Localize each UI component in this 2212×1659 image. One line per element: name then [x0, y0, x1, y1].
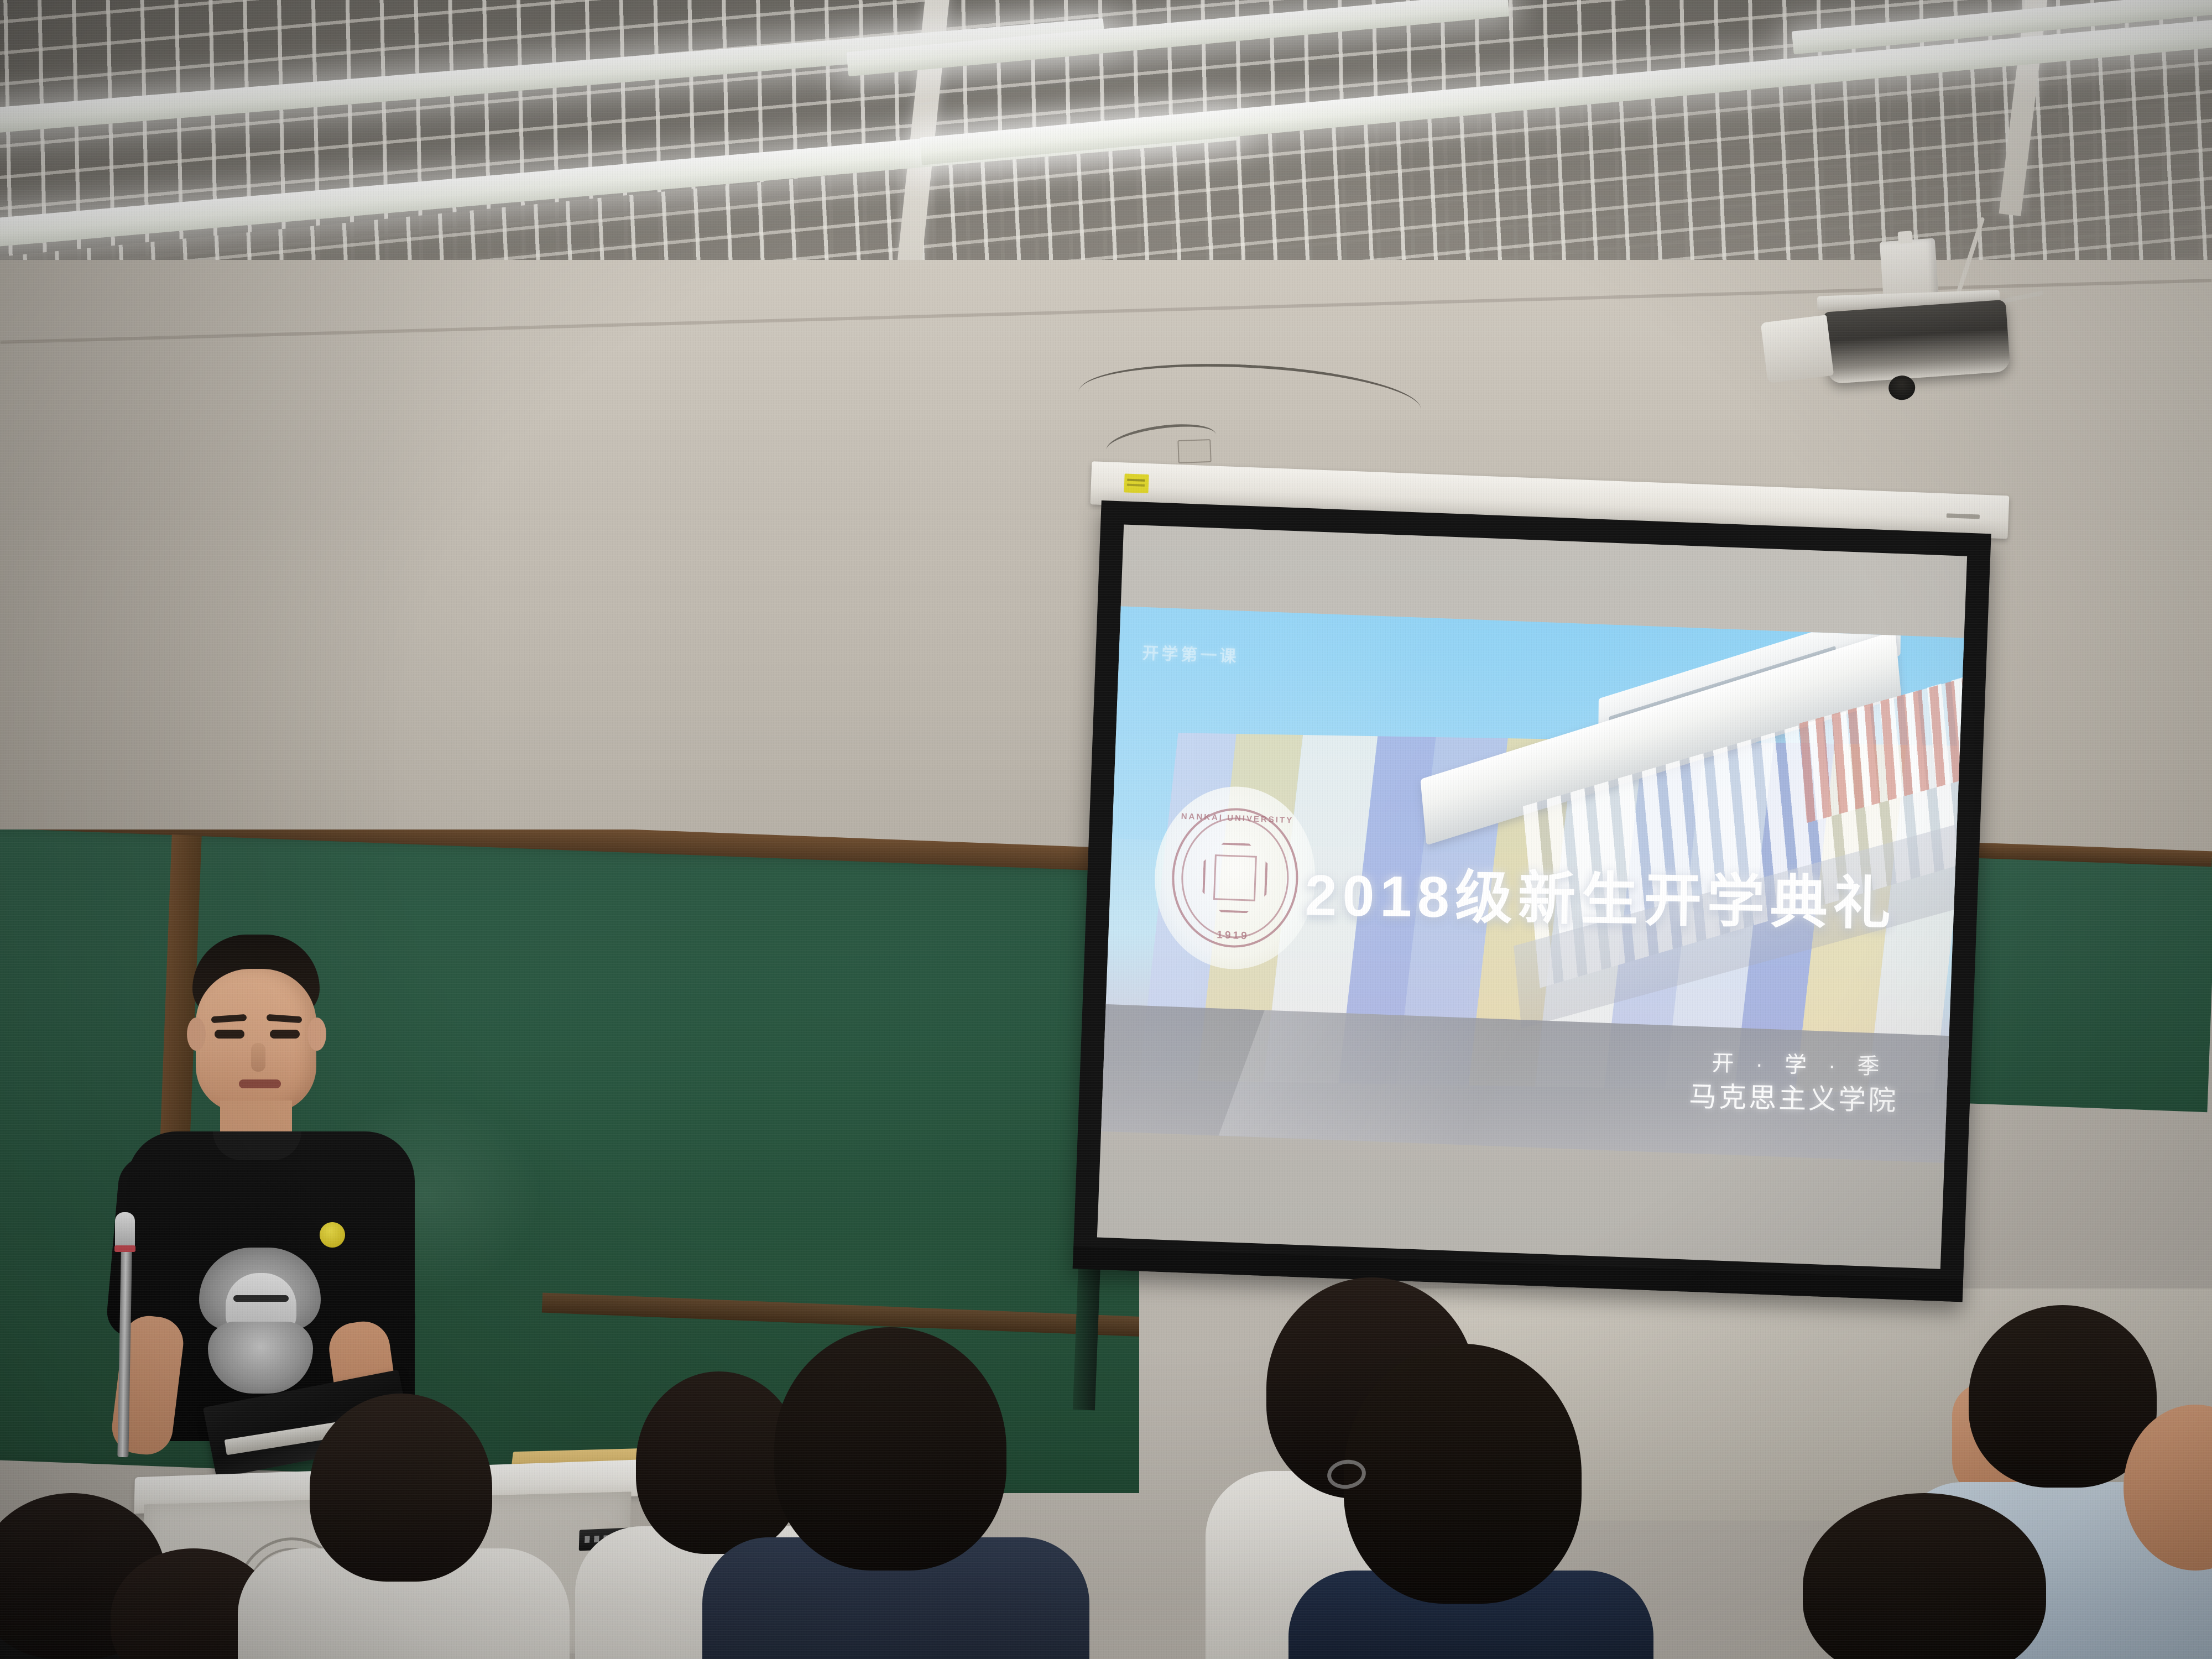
projection-screen-frame: 开学第一课 NANKAI UNIVERSITY	[1073, 500, 1991, 1302]
speaker-eye-left	[215, 1030, 244, 1039]
projection-screen-surface: 开学第一课 NANKAI UNIVERSITY	[1097, 524, 1967, 1269]
projector-adjust-foot	[1888, 375, 1916, 401]
audience-head-7	[1344, 1344, 1582, 1604]
slide-subtitle-school: 马克思主义学院	[1689, 1074, 1898, 1119]
housing-brand-label	[1947, 513, 1980, 519]
karl-marx-portrait-print	[191, 1244, 330, 1405]
warning-sticker	[1124, 473, 1149, 493]
ceiling-projector	[1780, 227, 2102, 431]
slide-road-highlight	[1219, 1010, 1685, 1152]
wall-shadow-left	[0, 260, 498, 896]
seal-founding-year: 1919	[1172, 927, 1294, 944]
speaker-mouth	[239, 1079, 281, 1088]
speaker-ear-right	[307, 1018, 326, 1051]
projection-screen-assembly: 开学第一课 NANKAI UNIVERSITY	[1072, 484, 2003, 1324]
marx-eyes	[233, 1295, 289, 1302]
projector-lens	[1761, 315, 1834, 383]
slide-main-title: 2018级新生开学典礼	[1305, 848, 1897, 940]
seal-octagon-emblem	[1202, 842, 1269, 914]
audience-head-3	[310, 1394, 492, 1582]
seal-outer-ring: NANKAI UNIVERSITY 1919	[1170, 806, 1301, 950]
speaker-nose	[251, 1043, 265, 1072]
microphone-head[interactable]	[115, 1212, 135, 1249]
speaker-ear-left	[187, 1018, 206, 1051]
wall-junction-box	[1177, 439, 1211, 463]
speaker-eye-right	[270, 1030, 300, 1039]
seal-ring-text: NANKAI UNIVERSITY	[1176, 811, 1298, 825]
projected-slide: 开学第一课 NANKAI UNIVERSITY	[1101, 606, 1964, 1163]
microphone-red-band	[114, 1245, 135, 1252]
marx-beard	[208, 1322, 313, 1394]
speaker-face	[196, 969, 316, 1113]
speaker-chest-badge	[320, 1222, 345, 1248]
classroom-photo-scene: 开学第一课 NANKAI UNIVERSITY	[0, 0, 2212, 1659]
slide-header-text: 开学第一课	[1142, 639, 1240, 667]
projector-body	[1823, 300, 2010, 384]
audience-head-5	[774, 1327, 1006, 1571]
